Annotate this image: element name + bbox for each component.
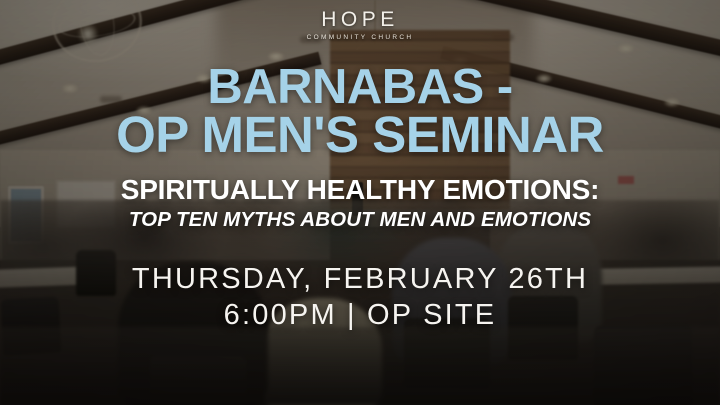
logo-tagline: COMMUNITY CHURCH (307, 35, 414, 42)
event-headline: BARNABAS - OP MEN'S SEMINAR (0, 64, 720, 160)
event-date: THURSDAY, FEBRUARY 26TH (132, 263, 588, 295)
event-promo-poster: HOPE COMMUNITY CHURCH BARNABAS - OP MEN'… (0, 0, 720, 405)
event-time-location: 6:00PM | OP SITE (0, 297, 720, 333)
poster-text-overlay: HOPE COMMUNITY CHURCH BARNABAS - OP MEN'… (0, 0, 720, 405)
church-logo: HOPE COMMUNITY CHURCH (307, 9, 414, 42)
event-subheadline: SPIRITUALLY HEALTHY EMOTIONS: (0, 176, 720, 204)
event-topic-line: TOP TEN MYTHS ABOUT MEN AND EMOTIONS (0, 210, 720, 231)
event-details: THURSDAY, FEBRUARY 26TH 6:00PM | OP SITE (0, 261, 720, 334)
headline-line-2: OP MEN'S SEMINAR (0, 111, 720, 160)
logo-wordmark: HOPE (307, 9, 414, 30)
